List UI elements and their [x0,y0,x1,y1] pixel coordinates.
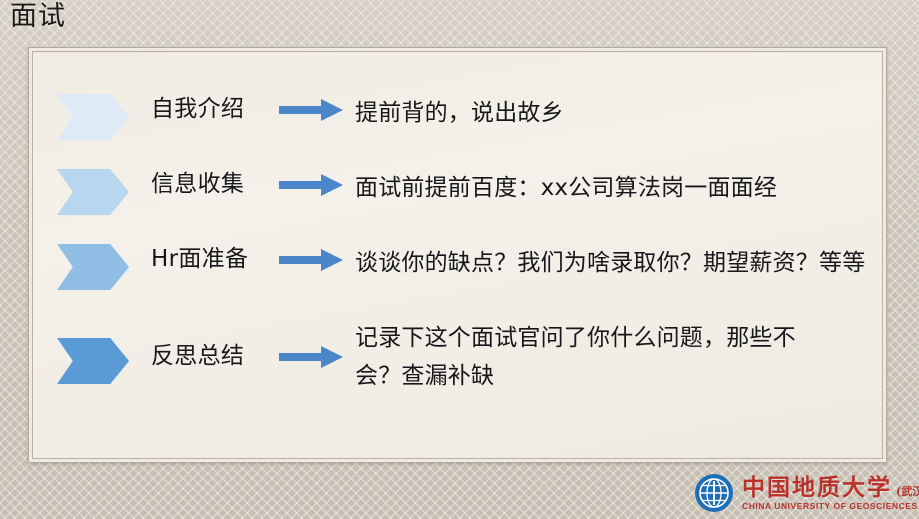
description-line: 会？查漏补缺 [355,357,856,395]
university-city-cn: (武汉) [896,485,919,498]
step-label-1: 自我介绍 [151,94,279,124]
step-label-3: Hr面准备 [151,244,279,274]
process-step-row: 自我介绍 提前背的，说出故乡 [29,94,886,140]
university-logo-text: 中国地质大学 (武汉) CHINA UNIVERSITY OF GEOSCIEN… [742,475,919,512]
chevron-shape-1 [57,94,129,140]
university-name-cn-line: 中国地质大学 (武汉) [742,475,919,500]
description-line: 谈谈你的缺点？我们为啥录取你？期望薪资？等等 [355,244,865,282]
step-label-2: 信息收集 [151,169,279,199]
university-name-en: CHINA UNIVERSITY OF GEOSCIENCES [742,501,919,512]
description-line: 记录下这个面试官问了你什么问题，那些不 [355,319,856,357]
right-arrow-icon [279,171,345,199]
right-arrow-icon [279,343,345,371]
page-title: 面试 [10,1,66,33]
description-line: 面试前提前百度：xx公司算法岗一面面经 [355,169,856,207]
process-step-row: 信息收集 面试前提前百度：xx公司算法岗一面面经 [29,169,886,215]
content-card: 自我介绍 提前背的，说出故乡 信息收集 面试前提前百度：xx公司算法岗一面面经 [28,47,887,463]
process-step-row: Hr面准备 谈谈你的缺点？我们为啥录取你？期望薪资？等等 [29,244,886,290]
step-description-2: 面试前提前百度：xx公司算法岗一面面经 [355,169,886,207]
title-bar: 面试 [0,0,919,34]
right-arrow-icon [279,96,345,124]
university-logo: 中国地质大学 (武汉) CHINA UNIVERSITY OF GEOSCIEN… [694,470,914,516]
step-description-1: 提前背的，说出故乡 [355,94,886,132]
step-description-3: 谈谈你的缺点？我们为啥录取你？期望薪资？等等 [355,244,895,282]
right-arrow-icon [279,246,345,274]
step-label-4: 反思总结 [151,341,279,371]
description-line: 提前背的，说出故乡 [355,94,856,132]
chevron-shape-3 [57,244,129,290]
step-description-4: 记录下这个面试官问了你什么问题，那些不 会？查漏补缺 [355,319,886,395]
chevron-shape-2 [57,169,129,215]
chevron-shape-4 [57,338,129,384]
university-name-cn: 中国地质大学 [742,475,892,500]
process-step-row: 反思总结 记录下这个面试官问了你什么问题，那些不 会？查漏补缺 [29,319,886,395]
slide: 面试 自我介绍 提前背的，说出故乡 信息收集 [0,0,919,519]
university-globe-emblem [694,473,734,513]
